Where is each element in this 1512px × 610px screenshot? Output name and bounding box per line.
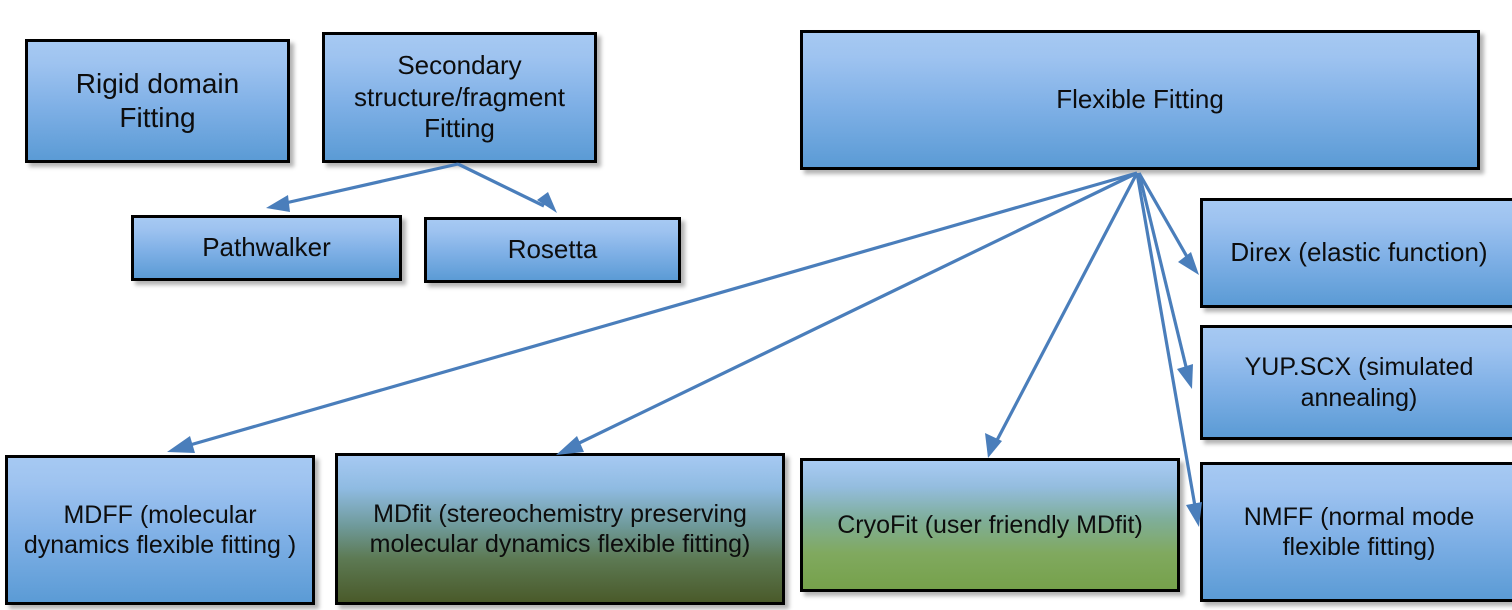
arrow-flexible-to-yupscx — [1139, 173, 1193, 389]
node-label: Direx (elastic function) — [1230, 237, 1487, 269]
node-label: MDFF (molecular dynamics flexible fittin… — [16, 500, 304, 561]
node-label: CryoFit (user friendly MDfit) — [837, 510, 1143, 541]
node-secondary-structure-fitting[interactable]: Secondary structure/fragment Fitting — [322, 32, 597, 163]
node-rigid-domain-fitting[interactable]: Rigid domain Fitting — [25, 39, 290, 163]
node-direx[interactable]: Direx (elastic function) — [1200, 198, 1512, 308]
node-mdff[interactable]: MDFF (molecular dynamics flexible fittin… — [5, 455, 315, 605]
node-nmff[interactable]: NMFF (normal mode flexible fitting) — [1200, 462, 1512, 602]
node-mdfit[interactable]: MDfit (stereochemistry preserving molecu… — [335, 453, 785, 605]
node-label: Rigid domain Fitting — [36, 67, 279, 135]
node-yup-scx[interactable]: YUP.SCX (simulated annealing) — [1200, 325, 1512, 440]
node-label: Secondary structure/fragment Fitting — [333, 50, 586, 145]
node-label: Pathwalker — [202, 232, 331, 264]
arrow-flexible-to-direx — [1139, 173, 1199, 275]
node-label: MDfit (stereochemistry preserving molecu… — [346, 499, 774, 560]
arrow-secondary-to-pathwalker — [266, 164, 458, 212]
arrow-secondary-to-rosetta — [458, 164, 557, 213]
node-label: Rosetta — [508, 234, 598, 266]
node-label: NMFF (normal mode flexible fitting) — [1211, 502, 1507, 563]
node-cryofit[interactable]: CryoFit (user friendly MDfit) — [800, 458, 1180, 592]
node-label: Flexible Fitting — [1056, 84, 1224, 116]
node-pathwalker[interactable]: Pathwalker — [131, 215, 402, 281]
diagram-canvas: Rigid domain Fitting Secondary structure… — [0, 0, 1512, 610]
node-flexible-fitting[interactable]: Flexible Fitting — [800, 30, 1480, 170]
arrow-flexible-to-mdfit — [556, 173, 1137, 455]
arrow-flexible-to-cryofit — [985, 173, 1137, 458]
node-rosetta[interactable]: Rosetta — [424, 217, 681, 283]
node-label: YUP.SCX (simulated annealing) — [1211, 352, 1507, 413]
